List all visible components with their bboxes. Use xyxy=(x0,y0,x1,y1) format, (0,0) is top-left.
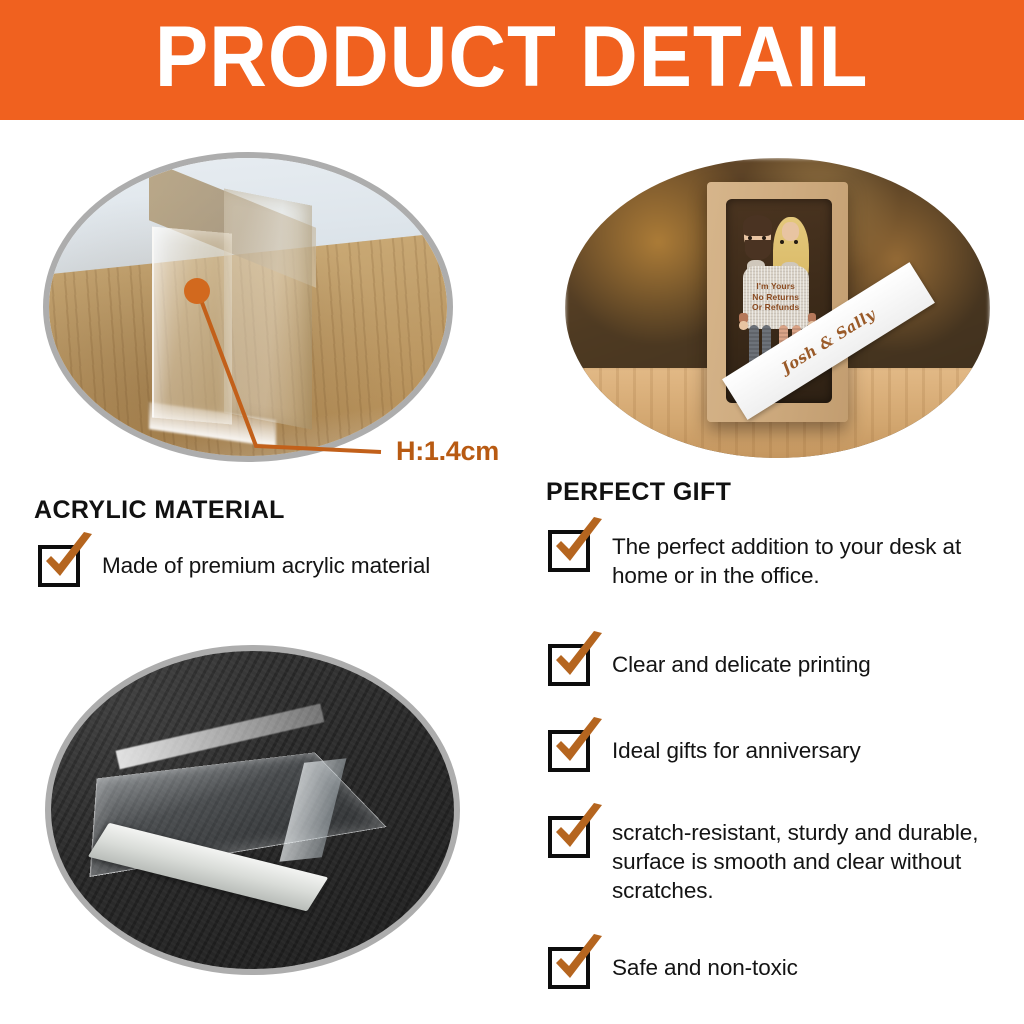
checkmark-icon xyxy=(550,803,608,861)
sweater-message: I'm Yours No Returns Or Refunds xyxy=(743,266,809,329)
feature-text: Clear and delicate printing xyxy=(612,650,871,679)
checkbox-checked[interactable] xyxy=(548,730,590,772)
checkmark-icon xyxy=(550,717,608,775)
feature-item: Made of premium acrylic material xyxy=(38,545,518,587)
checkmark-icon xyxy=(550,934,608,992)
block-front-face xyxy=(152,226,232,424)
checkbox-checked[interactable] xyxy=(548,816,590,858)
gift-box-photo: I'm Yours No Returns Or Refunds xyxy=(565,158,990,458)
checkbox-checked[interactable] xyxy=(548,530,590,572)
sweater-line-2: No Returns xyxy=(752,293,799,303)
feature-text: Safe and non-toxic xyxy=(612,953,798,982)
feature-item: Ideal gifts for anniversary xyxy=(548,730,1010,772)
feature-list-perfect-gift: The perfect addition to your desk at hom… xyxy=(548,530,1010,989)
checkbox-checked[interactable] xyxy=(548,947,590,989)
product-detail-page: PRODUCT DETAIL xyxy=(0,0,1024,1024)
doll-male-beard xyxy=(745,240,772,260)
checkbox-checked[interactable] xyxy=(38,545,80,587)
feature-list-acrylic-material: Made of premium acrylic material xyxy=(38,545,518,587)
header-banner: PRODUCT DETAIL xyxy=(0,0,1024,120)
acrylic-slab-photo xyxy=(45,645,460,975)
acrylic-edge-photo xyxy=(43,152,453,462)
doll-male-eye-left xyxy=(748,236,752,240)
checkbox-checked[interactable] xyxy=(548,644,590,686)
feature-text: Made of premium acrylic material xyxy=(102,551,430,580)
sweater-line-1: I'm Yours xyxy=(756,282,795,292)
sweater-line-3: Or Refunds xyxy=(752,303,799,313)
doll-male-eye-right xyxy=(762,236,766,240)
feature-text: Ideal gifts for anniversary xyxy=(612,736,861,765)
doll-male-hair xyxy=(743,215,773,235)
page-title: PRODUCT DETAIL xyxy=(155,14,869,106)
checkmark-icon xyxy=(550,631,608,689)
doll-male-hand xyxy=(739,321,748,330)
block-side-face xyxy=(224,188,312,429)
thickness-label: H:1.4cm xyxy=(396,436,499,467)
doll-sweater: I'm Yours No Returns Or Refunds xyxy=(743,266,809,329)
feature-item: Clear and delicate printing xyxy=(548,644,1010,686)
checkmark-icon xyxy=(550,517,608,575)
feature-item: The perfect addition to your desk at hom… xyxy=(548,530,1010,591)
section-heading-perfect-gift: PERFECT GIFT xyxy=(546,478,731,507)
photo-content xyxy=(51,651,454,969)
feature-item: Safe and non-toxic xyxy=(548,947,1010,989)
checkmark-icon xyxy=(40,532,98,590)
section-heading-acrylic-material: ACRYLIC MATERIAL xyxy=(34,496,285,525)
photo-content xyxy=(49,158,447,456)
doll-female-eye-left xyxy=(780,240,784,244)
photo-content: I'm Yours No Returns Or Refunds xyxy=(565,158,990,458)
feature-text: The perfect addition to your desk at hom… xyxy=(612,532,1010,591)
feature-item: scratch-resistant, sturdy and durable, s… xyxy=(548,816,1010,906)
doll-female-eye-right xyxy=(794,240,798,244)
feature-text: scratch-resistant, sturdy and durable, s… xyxy=(612,818,1010,906)
